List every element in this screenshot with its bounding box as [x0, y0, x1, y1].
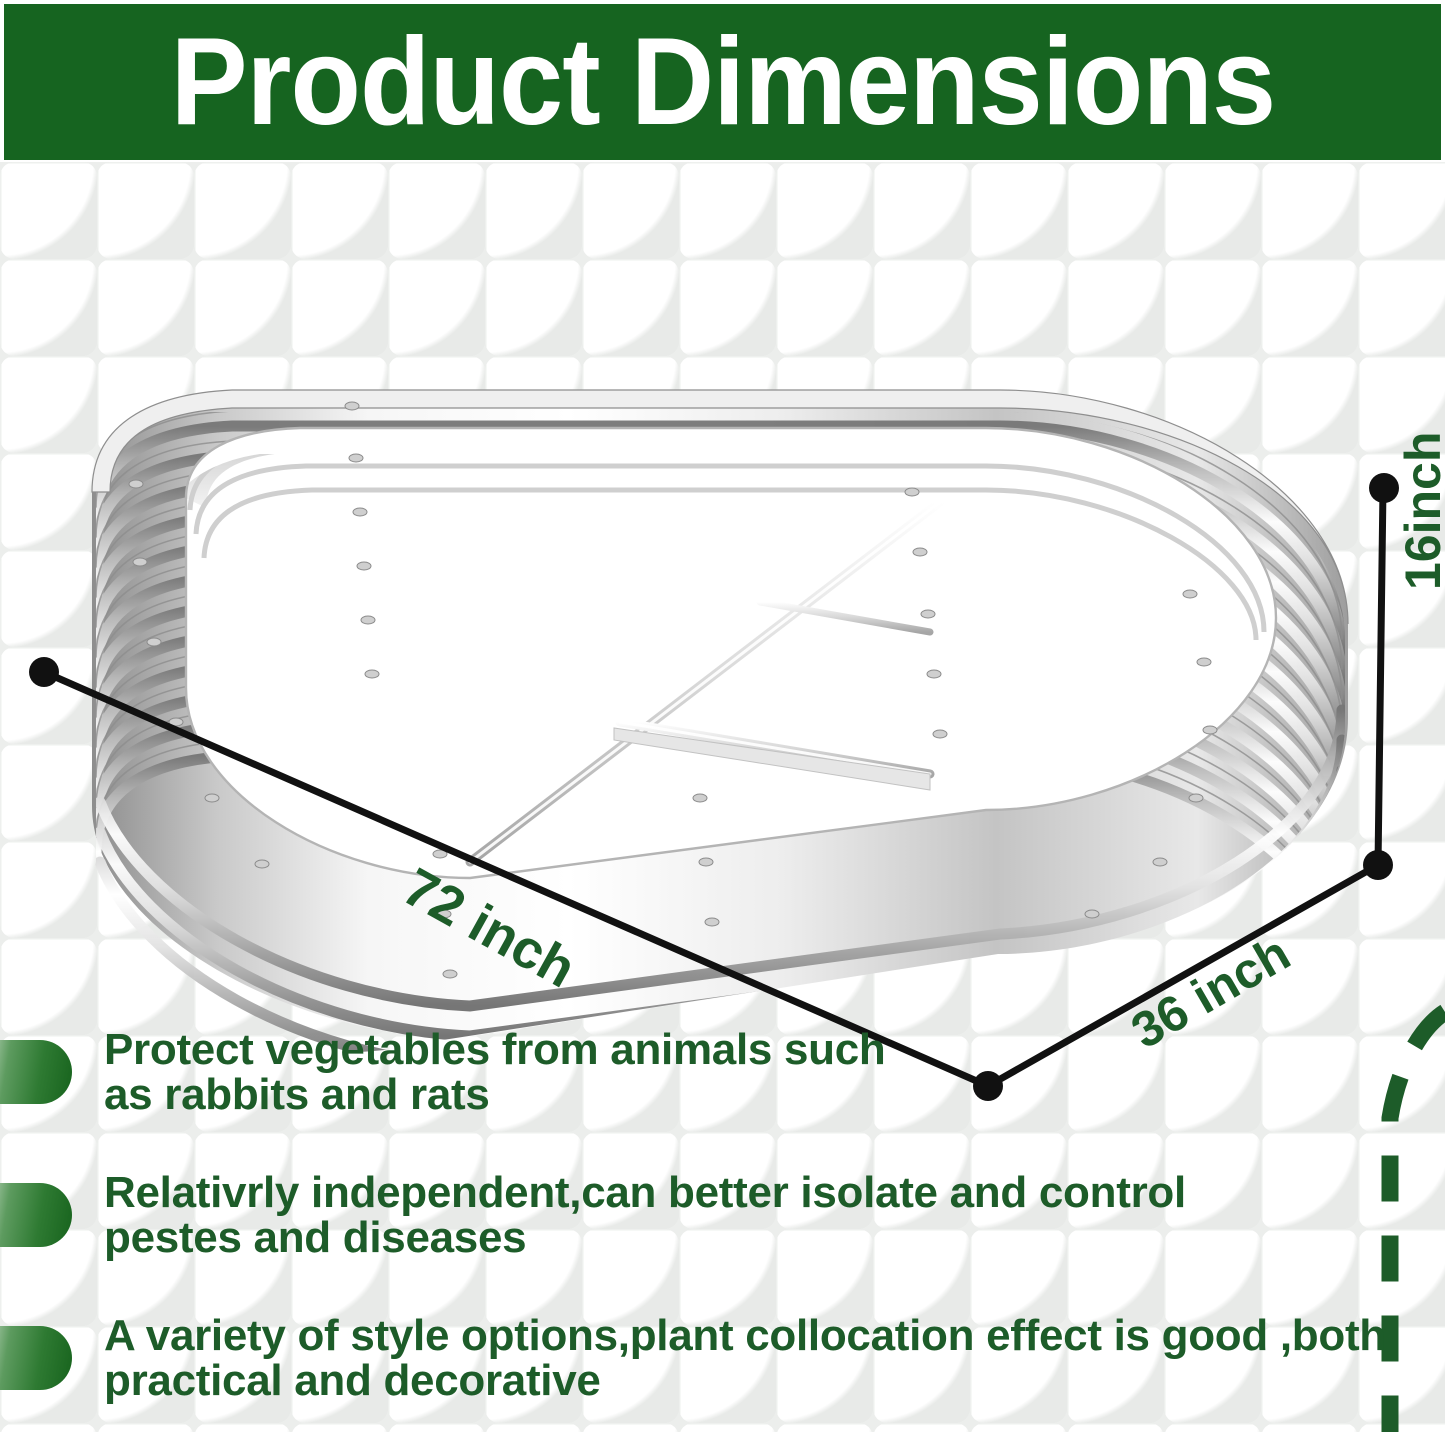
feature-item-3: A variety of style options,plant colloca…	[0, 1304, 1445, 1432]
feature-line: as rabbits and rats	[104, 1073, 1424, 1118]
page-title: Product Dimensions	[170, 20, 1275, 144]
feature-line: practical and decorative	[104, 1359, 1424, 1404]
feature-item-2: Relativrly independent,can better isolat…	[0, 1161, 1445, 1304]
feature-text-1: Protect vegetables from animals such as …	[104, 1028, 1424, 1118]
feature-text-2: Relativrly independent,can better isolat…	[104, 1171, 1424, 1261]
bullet-marker-icon	[0, 1326, 72, 1390]
feature-line: Relativrly independent,can better isolat…	[104, 1171, 1424, 1216]
feature-line: Protect vegetables from animals such	[104, 1028, 1424, 1073]
dimension-label-height: 16inch	[1398, 432, 1445, 590]
feature-list: Protect vegetables from animals such as …	[0, 1018, 1445, 1432]
product-dimensions-infographic: Product Dimensions	[0, 0, 1445, 1432]
bullet-marker-icon	[0, 1040, 72, 1104]
planter-body	[92, 390, 1348, 1066]
header-banner: Product Dimensions	[4, 4, 1441, 160]
feature-line: pestes and diseases	[104, 1216, 1424, 1261]
bullet-marker-icon	[0, 1183, 72, 1247]
feature-item-1: Protect vegetables from animals such as …	[0, 1018, 1445, 1161]
feature-line: A variety of style options,plant colloca…	[104, 1314, 1424, 1359]
feature-text-3: A variety of style options,plant colloca…	[104, 1314, 1424, 1404]
